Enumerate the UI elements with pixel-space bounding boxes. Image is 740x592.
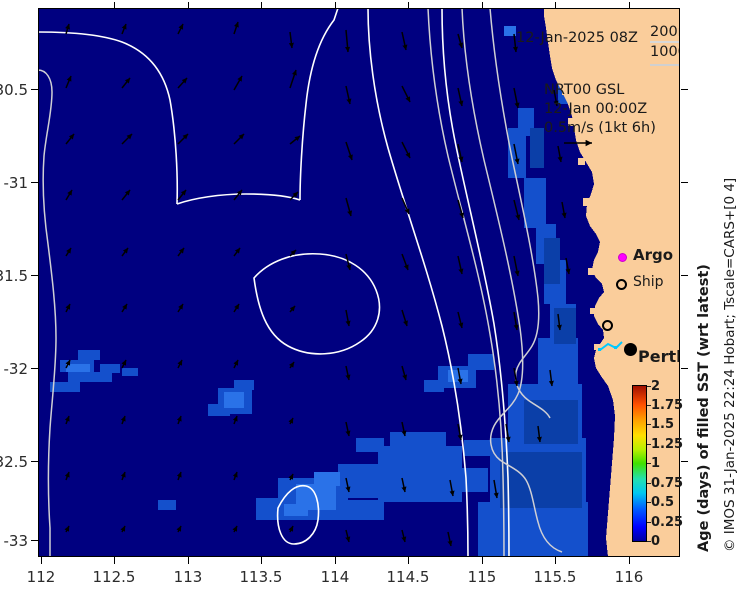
legend-ship-label: Ship	[633, 274, 664, 290]
y-tick-label-3: -32	[0, 360, 28, 378]
x-tick-6	[482, 557, 483, 564]
x-top-tick-6	[482, 2, 483, 9]
x-tick-8	[629, 557, 630, 564]
colorbar-tick-label-5: 0.75	[651, 476, 683, 491]
x-tick-label-8: 116	[594, 568, 664, 586]
colorbar-tick-label-8: 0	[651, 534, 660, 549]
y-tick-0	[31, 89, 38, 90]
y-tick-label-0: -30.5	[0, 81, 28, 99]
y-tick-label-1: -31	[0, 174, 28, 192]
y-tick-4	[31, 461, 38, 462]
y-tick-label-4: -32.5	[0, 453, 28, 471]
x-top-tick-7	[555, 2, 556, 9]
perth-city-label: Perth	[638, 347, 680, 366]
depth-key-200m-label: 200m	[650, 24, 680, 40]
y-tick-3	[31, 368, 38, 369]
x-top-tick-2	[188, 2, 189, 9]
colorbar-tick-label-2: 1.5	[651, 417, 674, 432]
colorbar-tick-label-4: 1	[651, 456, 660, 471]
x-tick-label-5: 114.5	[373, 568, 443, 586]
colorbar-tick-label-3: 1.25	[651, 437, 683, 452]
current-time-label: 12-Jan 00:00Z	[544, 101, 647, 117]
y-right-tick-0	[681, 89, 688, 90]
x-tick-5	[408, 557, 409, 564]
x-tick-label-3: 113.5	[226, 568, 296, 586]
depth-key-200m-line	[650, 41, 680, 43]
x-top-tick-4	[335, 2, 336, 9]
sst-age-map-figure: 12-Jan-2025 08Z 200m 1000m NRT00 GSL 12-…	[0, 0, 740, 592]
colorbar-tick-label-0: 2	[651, 379, 660, 394]
current-scale-arrow	[562, 136, 602, 150]
x-tick-4	[335, 557, 336, 564]
colorbar[interactable]	[632, 385, 647, 542]
y-right-tick-1	[681, 182, 688, 183]
ship-position-marker[interactable]	[602, 320, 613, 331]
y-tick-1	[31, 182, 38, 183]
colorbar-tick-label-6: 0.5	[651, 495, 674, 510]
current-source-label: NRT00 GSL	[544, 82, 624, 98]
x-top-tick-3	[261, 2, 262, 9]
y-tick-2	[31, 275, 38, 276]
x-tick-2	[188, 557, 189, 564]
y-right-tick-2	[681, 275, 688, 276]
y-right-tick-3	[681, 368, 688, 369]
perth-city-dot	[624, 343, 637, 356]
current-scale-label: 0.5m/s (1kt 6h)	[544, 120, 656, 136]
x-tick-label-2: 113	[153, 568, 223, 586]
map-plot-area[interactable]: 12-Jan-2025 08Z 200m 1000m NRT00 GSL 12-…	[38, 8, 680, 557]
x-tick-label-4: 114	[300, 568, 370, 586]
colorbar-tick-label-7: 0.25	[651, 515, 683, 530]
depth-key-1000m-label: 1000m	[650, 44, 680, 60]
y-right-tick-4	[681, 461, 688, 462]
x-top-tick-8	[629, 2, 630, 9]
copyright-credit: © IMOS 31-Jan-2025 22:24 Hobart; Tscale=…	[722, 178, 738, 552]
y-tick-label-2: -31.5	[0, 267, 28, 285]
x-tick-0	[41, 557, 42, 564]
legend-argo-label: Argo	[633, 246, 673, 264]
colorbar-axis-label: Age (days) of filled SST (wrt latest)	[696, 264, 712, 552]
colorbar-tick-label-1: 1.75	[651, 398, 683, 413]
x-tick-label-6: 115	[447, 568, 517, 586]
y-tick-label-5: -33	[0, 532, 28, 550]
timestamp-label: 12-Jan-2025 08Z	[516, 30, 638, 46]
x-tick-label-0: 112	[6, 568, 76, 586]
x-top-tick-1	[114, 2, 115, 9]
y-tick-5	[31, 540, 38, 541]
legend-argo-marker	[618, 253, 627, 262]
x-tick-label-7: 115.5	[520, 568, 590, 586]
x-tick-3	[261, 557, 262, 564]
legend-ship-marker	[616, 279, 627, 290]
depth-key-1000m-line	[650, 64, 680, 66]
x-top-tick-5	[408, 2, 409, 9]
x-tick-label-1: 112.5	[79, 568, 149, 586]
x-tick-1	[114, 557, 115, 564]
x-tick-7	[555, 557, 556, 564]
